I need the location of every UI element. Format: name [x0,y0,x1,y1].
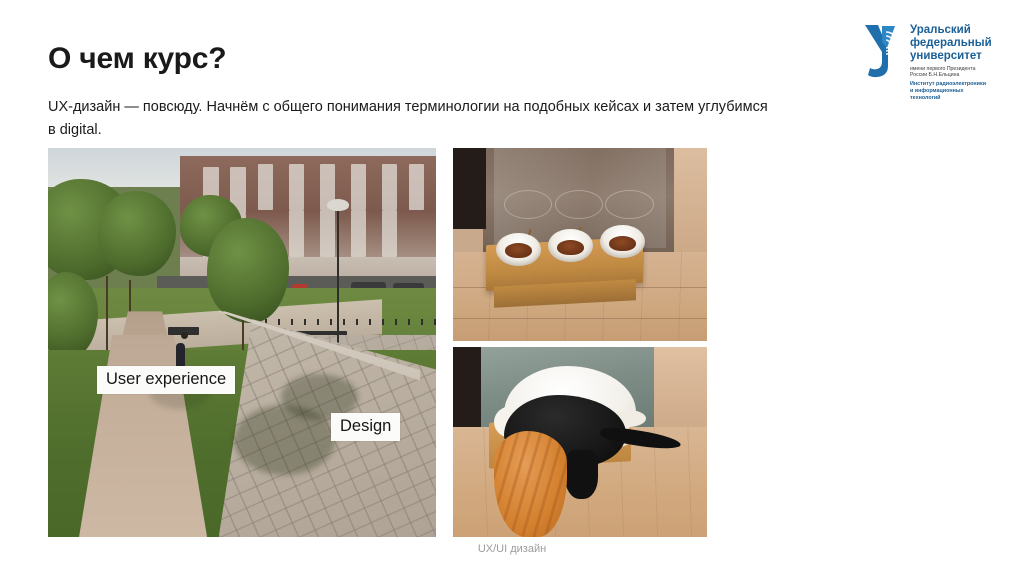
label-design: Design [331,413,400,441]
bowl-center [548,229,592,262]
kibble [557,240,584,255]
bowl-left [496,233,540,266]
label-user-experience: User experience [97,366,235,394]
urfu-logo-text: Уральский федеральный университет имени … [910,24,1014,101]
logo-institute-line-3: технологий [910,95,1014,102]
slide: О чем курс? UX-дизайн — повсюду. Начнём … [0,0,1024,576]
logo-institute-line-2: и информационных [910,88,1014,95]
slide-subtitle: UX-дизайн — повсюду. Начнём с общего пон… [48,96,778,142]
cats-scene [453,347,707,537]
right-wall [674,148,707,260]
cat-bowls-photo [453,148,707,341]
park-desire-path-photo [48,148,436,537]
slide-footer: UX/UI дизайн [0,543,1024,555]
orange-cat [494,431,568,537]
park-scene [48,148,436,537]
bowl-right [600,225,644,258]
logo-line-3: университет [910,50,1014,63]
black-cat-leg [565,450,598,499]
urfu-logo: Уральский федеральный университет имени … [862,22,1012,100]
page-title: О чем курс? [48,42,226,76]
logo-subtitle-line-2: России Б.Н.Ельцина [910,72,1014,78]
kibble [609,236,636,251]
kibble [505,243,532,258]
bowls-scene [453,148,707,341]
dark-corner [453,347,481,434]
dark-corner [453,148,486,229]
logo-line-1: Уральский [910,24,1014,37]
logo-line-2: федеральный [910,37,1014,50]
cats-eating-photo [453,347,707,537]
urfu-swoosh-icon [862,22,904,80]
right-wall [654,347,707,438]
